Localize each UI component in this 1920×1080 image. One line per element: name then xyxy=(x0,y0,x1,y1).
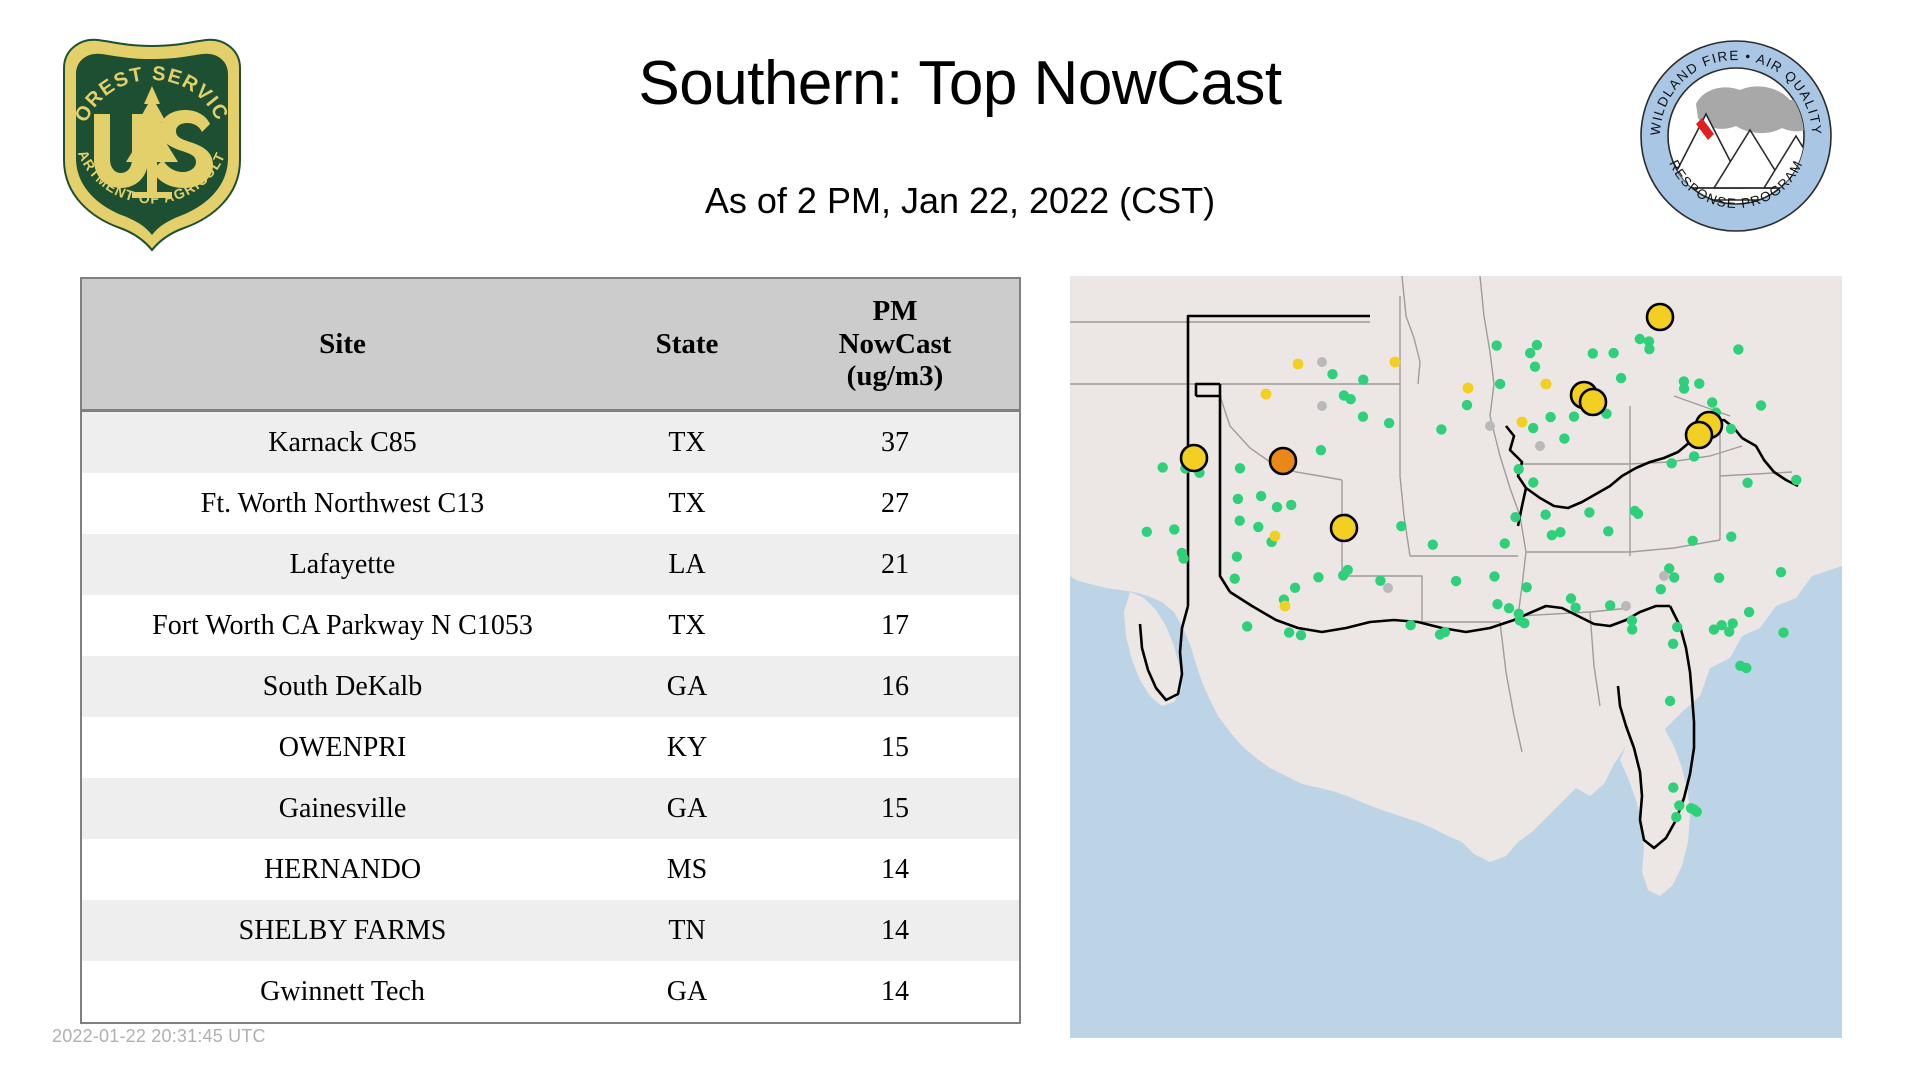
monitor-dot-good[interactable] xyxy=(1169,524,1179,534)
monitor-dot-nodata[interactable] xyxy=(1383,583,1393,593)
column-header-site: Site xyxy=(81,278,603,411)
column-header-state-label: State xyxy=(656,328,719,360)
monitor-dot-good[interactable] xyxy=(1384,418,1394,428)
monitor-dot-good[interactable] xyxy=(1375,576,1385,586)
monitor-dot-moderate[interactable] xyxy=(1390,357,1401,368)
monitor-dot-good[interactable] xyxy=(1530,362,1540,372)
monitor-dot-good[interactable] xyxy=(1566,593,1576,603)
monitor-dot-moderate[interactable] xyxy=(1517,417,1528,428)
monitor-dot-good[interactable] xyxy=(1726,424,1736,434)
table-row: GainesvilleGA15 xyxy=(81,778,1020,839)
monitor-dot-moderate[interactable] xyxy=(1270,531,1281,542)
site-cell: SHELBY FARMS xyxy=(81,900,603,961)
monitor-dot-good[interactable] xyxy=(1440,627,1450,637)
monitor-dot-nodata[interactable] xyxy=(1317,401,1327,411)
site-cell: Gainesville xyxy=(81,778,603,839)
state-cell: TX xyxy=(603,473,771,534)
monitor-dot-nodata[interactable] xyxy=(1535,441,1545,451)
monitor-dot-good[interactable] xyxy=(1500,538,1510,548)
state-cell: MS xyxy=(603,839,771,900)
monitor-dot-good[interactable] xyxy=(1741,663,1751,673)
monitor-dot-good[interactable] xyxy=(1235,516,1245,526)
monitor-dot-top-site[interactable] xyxy=(1686,422,1712,448)
monitor-dot-good[interactable] xyxy=(1519,618,1529,628)
monitor-dot-good[interactable] xyxy=(1232,552,1242,562)
column-header-pm-line2: NowCast xyxy=(775,328,1015,360)
monitor-dot-good[interactable] xyxy=(1510,512,1520,522)
render-timestamp: 2022-01-22 20:31:45 UTC xyxy=(52,1026,266,1047)
table-row: Fort Worth CA Parkway N C1053TX17 xyxy=(81,595,1020,656)
monitor-dot-moderate[interactable] xyxy=(1261,389,1272,400)
monitor-dot-good[interactable] xyxy=(1569,411,1579,421)
monitor-dot-good[interactable] xyxy=(1707,397,1717,407)
monitor-dot-good[interactable] xyxy=(1532,340,1542,350)
monitor-dot-good[interactable] xyxy=(1627,624,1637,634)
monitor-dot-top-site[interactable] xyxy=(1181,445,1207,471)
monitor-dot-good[interactable] xyxy=(1656,584,1666,594)
pm-nowcast-cell: 27 xyxy=(771,473,1020,534)
column-header-site-label: Site xyxy=(319,328,366,360)
monitor-dot-top-site[interactable] xyxy=(1331,515,1357,541)
state-cell: LA xyxy=(603,534,771,595)
monitor-dot-good[interactable] xyxy=(1540,510,1550,520)
pm-nowcast-cell: 15 xyxy=(771,717,1020,778)
top-nowcast-table: Site State PM NowCast (ug/m3) Karnack C8… xyxy=(80,277,1021,1024)
monitor-dot-good[interactable] xyxy=(1528,477,1538,487)
monitor-dot-good[interactable] xyxy=(1284,627,1294,637)
table-row: Karnack C85TX37 xyxy=(81,411,1020,474)
monitor-dot-good[interactable] xyxy=(1233,494,1243,504)
monitor-dot-good[interactable] xyxy=(1689,451,1699,461)
pm-nowcast-cell: 37 xyxy=(771,411,1020,474)
monitor-dot-good[interactable] xyxy=(1525,348,1535,358)
monitor-dot-top-site[interactable] xyxy=(1580,389,1606,415)
wildland-fire-air-quality-response-program-logo: WILDLAND FIRE • AIR QUALITY RESPONSE PRO… xyxy=(1638,38,1834,234)
monitor-dot-good[interactable] xyxy=(1253,522,1263,532)
monitor-dot-good[interactable] xyxy=(1744,607,1754,617)
pm-nowcast-cell: 14 xyxy=(771,839,1020,900)
monitor-dot-good[interactable] xyxy=(1327,369,1337,379)
monitor-dot-good[interactable] xyxy=(1346,394,1356,404)
state-cell: TX xyxy=(603,595,771,656)
table-row: LafayetteLA21 xyxy=(81,534,1020,595)
monitor-dot-good[interactable] xyxy=(1514,464,1524,474)
table-row: South DeKalbGA16 xyxy=(81,656,1020,717)
monitor-dot-good[interactable] xyxy=(1343,565,1353,575)
site-cell: HERNANDO xyxy=(81,839,603,900)
monitor-dot-good[interactable] xyxy=(1358,412,1368,422)
site-cell: South DeKalb xyxy=(81,656,603,717)
monitor-dot-good[interactable] xyxy=(1272,502,1282,512)
monitor-dot-nodata[interactable] xyxy=(1317,357,1327,367)
monitor-dot-good[interactable] xyxy=(1495,379,1505,389)
monitor-dot-good[interactable] xyxy=(1584,507,1594,517)
monitor-dot-good[interactable] xyxy=(1694,378,1704,388)
monitor-dot-good[interactable] xyxy=(1778,627,1788,637)
monitor-dot-good[interactable] xyxy=(1492,340,1502,350)
table-row: SHELBY FARMSTN14 xyxy=(81,900,1020,961)
monitor-dot-good[interactable] xyxy=(1669,572,1679,582)
pm-nowcast-cell: 17 xyxy=(771,595,1020,656)
state-cell: TN xyxy=(603,900,771,961)
state-cell: TX xyxy=(603,411,771,474)
monitor-dot-good[interactable] xyxy=(1358,375,1368,385)
monitor-dot-good[interactable] xyxy=(1451,576,1461,586)
table-row: Gwinnett TechGA14 xyxy=(81,961,1020,1023)
monitor-dot-good[interactable] xyxy=(1313,572,1323,582)
monitor-dot-good[interactable] xyxy=(1791,475,1801,485)
monitor-dot-good[interactable] xyxy=(1608,348,1618,358)
monitor-dot-good[interactable] xyxy=(1462,400,1472,410)
pm-nowcast-cell: 14 xyxy=(771,961,1020,1023)
monitor-dot-nodata[interactable] xyxy=(1659,571,1669,581)
monitor-dot-good[interactable] xyxy=(1742,478,1752,488)
state-cell: GA xyxy=(603,961,771,1023)
monitor-dot-good[interactable] xyxy=(1177,548,1187,558)
monitor-dot-good[interactable] xyxy=(1396,521,1406,531)
column-header-pm-line3: (ug/m3) xyxy=(775,360,1015,392)
monitor-dot-good[interactable] xyxy=(1545,412,1555,422)
monitor-dot-good[interactable] xyxy=(1717,620,1727,630)
monitor-dot-good[interactable] xyxy=(1286,500,1296,510)
monitor-dot-good[interactable] xyxy=(1504,603,1514,613)
site-cell: Gwinnett Tech xyxy=(81,961,603,1023)
page-title: Southern: Top NowCast xyxy=(0,48,1920,119)
state-cell: KY xyxy=(603,717,771,778)
pm-nowcast-cell: 16 xyxy=(771,656,1020,717)
monitor-dot-good[interactable] xyxy=(1644,336,1654,346)
monitor-dot-good[interactable] xyxy=(1714,573,1724,583)
monitor-dot-good[interactable] xyxy=(1158,462,1168,472)
monitor-dot-moderate[interactable] xyxy=(1280,601,1291,612)
table-row: Ft. Worth Northwest C13TX27 xyxy=(81,473,1020,534)
site-cell: Karnack C85 xyxy=(81,411,603,474)
monitor-dot-good[interactable] xyxy=(1674,800,1684,810)
monitor-dot-good[interactable] xyxy=(1588,348,1598,358)
monitor-dot-good[interactable] xyxy=(1667,458,1677,468)
monitor-dot-good[interactable] xyxy=(1605,600,1615,610)
monitor-dot-moderate[interactable] xyxy=(1293,359,1304,370)
monitor-dot-good[interactable] xyxy=(1668,782,1678,792)
monitor-dot-good[interactable] xyxy=(1256,491,1266,501)
monitor-dot-good[interactable] xyxy=(1296,630,1306,640)
monitor-dot-good[interactable] xyxy=(1635,334,1645,344)
monitor-dot-good[interactable] xyxy=(1668,639,1678,649)
monitor-dot-good[interactable] xyxy=(1616,373,1626,383)
monitor-dot-good[interactable] xyxy=(1436,424,1446,434)
monitor-dot-good[interactable] xyxy=(1756,400,1766,410)
monitor-dot-good[interactable] xyxy=(1733,344,1743,354)
table-header-row: Site State PM NowCast (ug/m3) xyxy=(81,278,1020,411)
air-quality-monitor-map[interactable]: Air Quality Index HazardousVery Unhealth… xyxy=(1070,276,1842,1038)
column-header-pm-line1: PM xyxy=(775,295,1015,327)
monitor-dot-top-site[interactable] xyxy=(1647,304,1673,330)
site-cell: Lafayette xyxy=(81,534,603,595)
monitor-dot-good[interactable] xyxy=(1230,574,1240,584)
monitor-dot-nodata[interactable] xyxy=(1485,421,1495,431)
monitor-dot-good[interactable] xyxy=(1428,540,1438,550)
table-row: OWENPRIKY15 xyxy=(81,717,1020,778)
monitor-dot-good[interactable] xyxy=(1405,620,1415,630)
monitor-dot-good[interactable] xyxy=(1627,615,1637,625)
monitor-dot-good[interactable] xyxy=(1559,433,1569,443)
monitor-dot-good[interactable] xyxy=(1492,599,1502,609)
monitor-dot-good[interactable] xyxy=(1689,804,1699,814)
monitor-dot-good[interactable] xyxy=(1528,423,1538,433)
monitor-dot-good[interactable] xyxy=(1672,622,1682,632)
monitor-dot-good[interactable] xyxy=(1489,571,1499,581)
monitor-dot-nodata[interactable] xyxy=(1621,601,1631,611)
pm-nowcast-cell: 15 xyxy=(771,778,1020,839)
monitor-dot-good[interactable] xyxy=(1555,527,1565,537)
monitor-dot-good[interactable] xyxy=(1522,582,1532,592)
monitor-dot-good[interactable] xyxy=(1633,509,1643,519)
monitor-dot-good[interactable] xyxy=(1688,536,1698,546)
site-cell: OWENPRI xyxy=(81,717,603,778)
monitor-dot-good[interactable] xyxy=(1570,603,1580,613)
site-cell: Fort Worth CA Parkway N C1053 xyxy=(81,595,603,656)
pm-nowcast-cell: 14 xyxy=(771,900,1020,961)
site-cell: Ft. Worth Northwest C13 xyxy=(81,473,603,534)
monitor-dot-good[interactable] xyxy=(1235,463,1245,473)
monitor-dot-moderate[interactable] xyxy=(1463,383,1474,394)
monitor-dot-good[interactable] xyxy=(1142,527,1152,537)
monitor-dot-good[interactable] xyxy=(1671,812,1681,822)
monitor-dot-good[interactable] xyxy=(1290,583,1300,593)
table-row: HERNANDOMS14 xyxy=(81,839,1020,900)
monitor-dot-good[interactable] xyxy=(1679,376,1689,386)
monitor-dot-moderate[interactable] xyxy=(1541,379,1552,390)
monitor-dot-good[interactable] xyxy=(1728,618,1738,628)
monitor-dot-good[interactable] xyxy=(1776,567,1786,577)
column-header-state: State xyxy=(603,278,771,411)
state-cell: GA xyxy=(603,656,771,717)
monitor-dot-good[interactable] xyxy=(1316,445,1326,455)
monitor-dot-good[interactable] xyxy=(1242,621,1252,631)
monitor-dot-good[interactable] xyxy=(1726,532,1736,542)
pm-nowcast-cell: 21 xyxy=(771,534,1020,595)
page-subtitle: As of 2 PM, Jan 22, 2022 (CST) xyxy=(0,180,1920,222)
state-cell: GA xyxy=(603,778,771,839)
column-header-pm-nowcast: PM NowCast (ug/m3) xyxy=(771,278,1020,411)
monitor-dot-good[interactable] xyxy=(1603,526,1613,536)
monitor-dot-top-site[interactable] xyxy=(1270,448,1296,474)
monitor-dot-good[interactable] xyxy=(1665,696,1675,706)
